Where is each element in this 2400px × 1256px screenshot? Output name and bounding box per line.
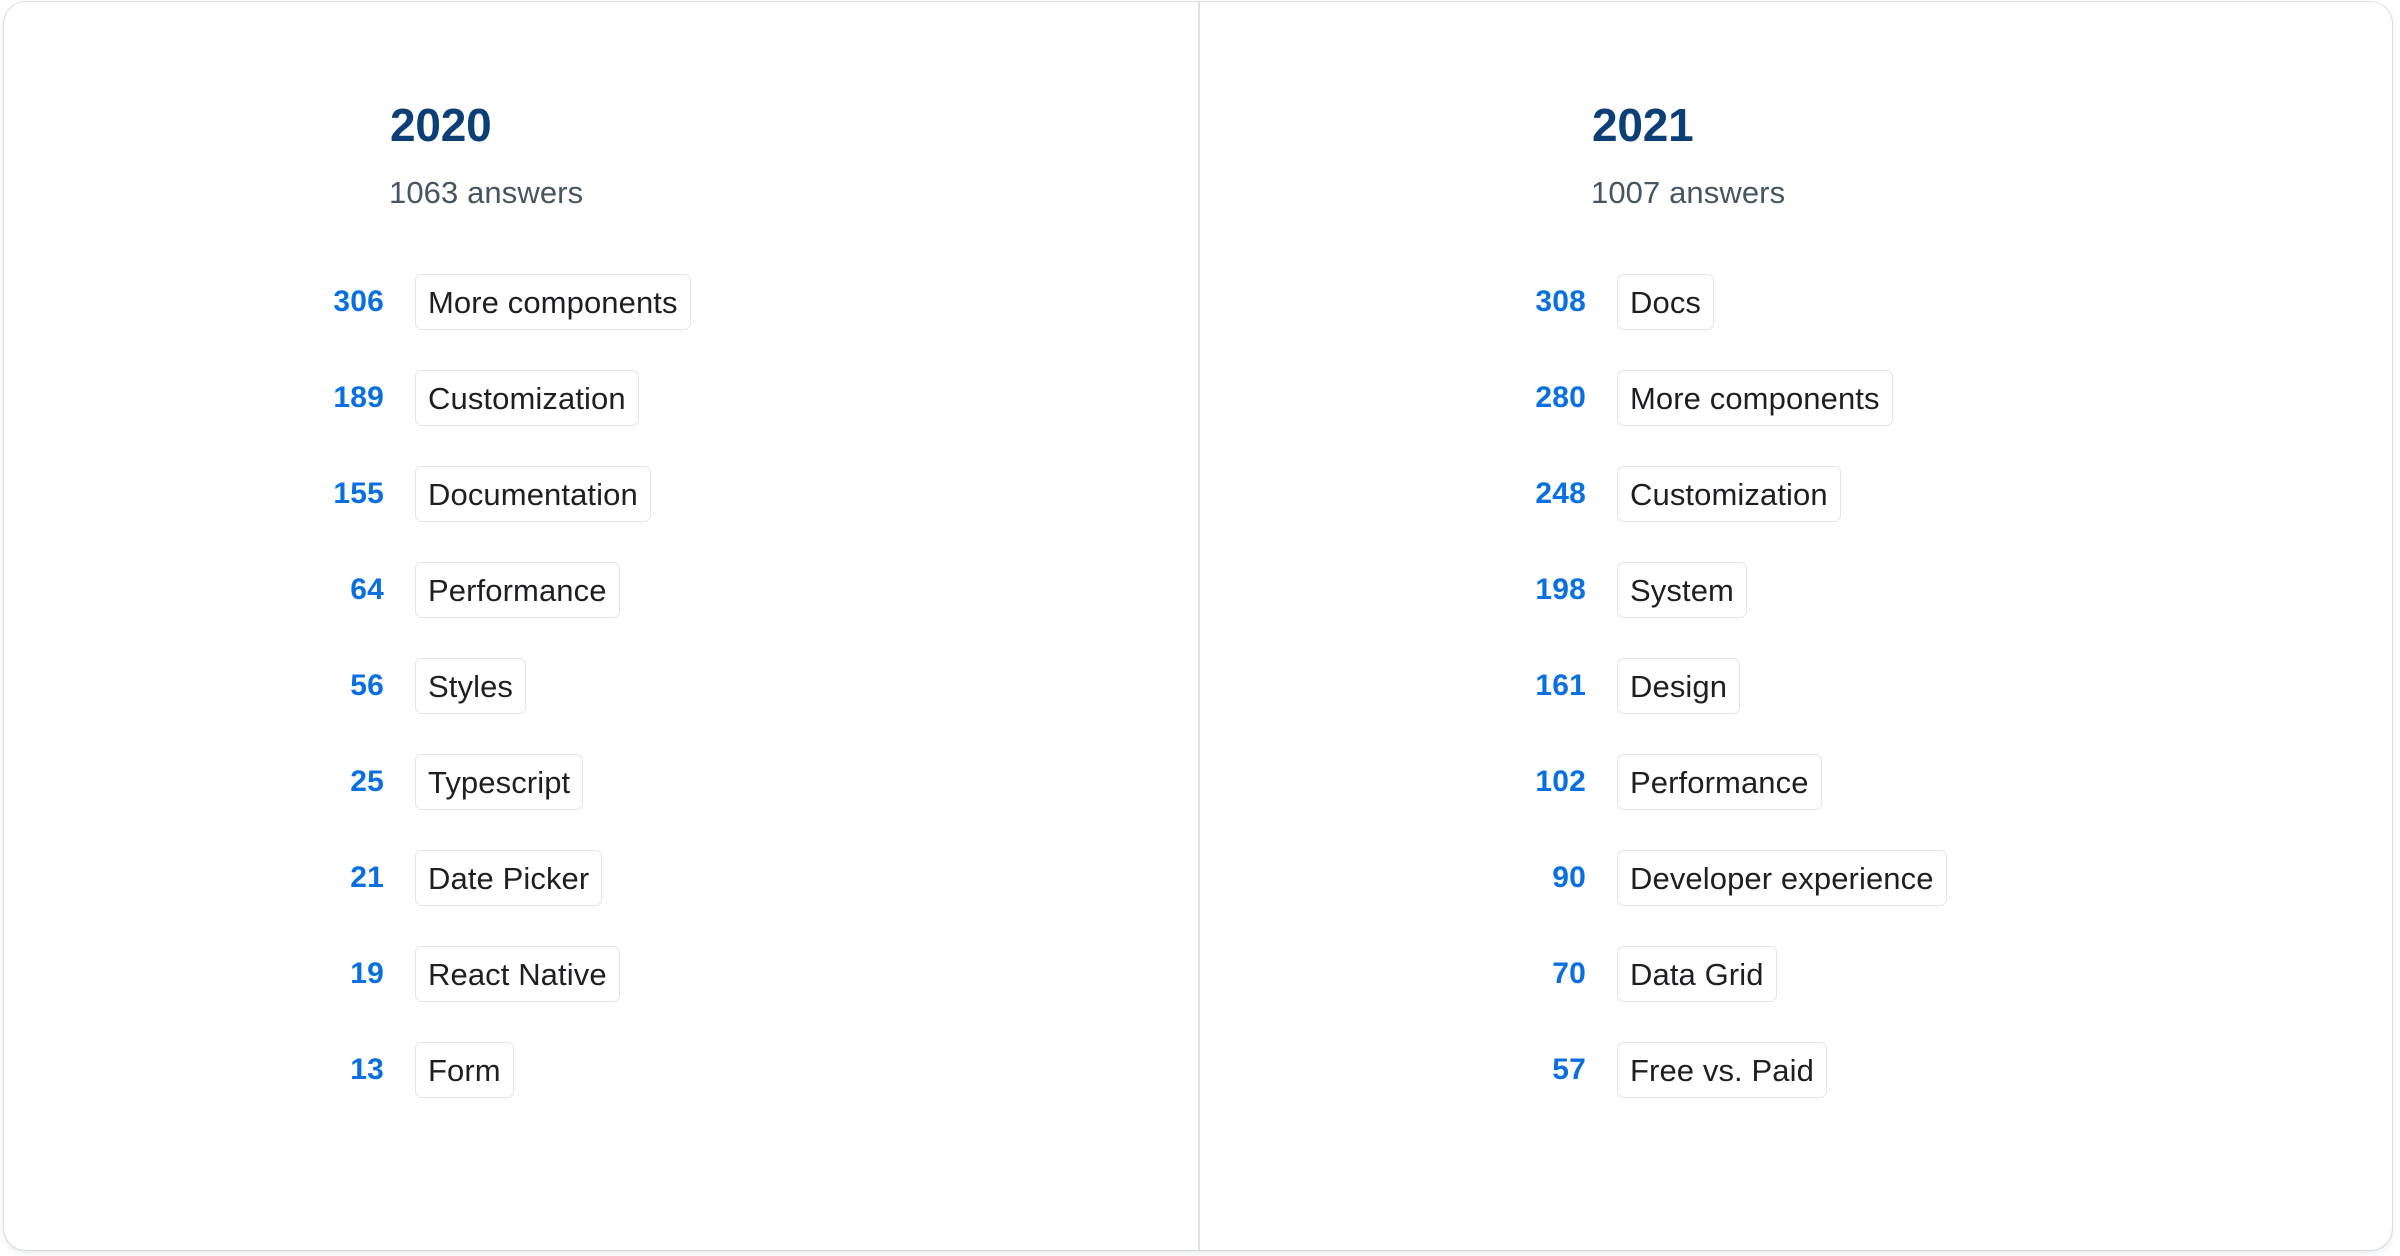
result-row[interactable]: 189 Customization [389,350,1198,446]
result-row[interactable]: 102 Performance [1591,734,2392,830]
result-row[interactable]: 306 More components [389,254,1198,350]
result-count: 198 [1522,575,1586,605]
result-label-chip[interactable]: Documentation [415,466,651,522]
result-count: 19 [320,959,384,989]
results-list-2021: 308 Docs 280 More components 248 Customi… [1591,254,2392,1118]
result-label-chip[interactable]: Developer experience [1617,850,1947,906]
result-count: 308 [1522,287,1586,317]
result-label-chip[interactable]: Styles [415,658,526,714]
result-label-chip[interactable]: React Native [415,946,620,1002]
result-row[interactable]: 155 Documentation [389,446,1198,542]
result-row[interactable]: 198 System [1591,542,2392,638]
result-count: 102 [1522,767,1586,797]
result-count: 64 [320,575,384,605]
result-label-chip[interactable]: Free vs. Paid [1617,1042,1827,1098]
results-list-2020: 306 More components 189 Customization 15… [389,254,1198,1118]
result-count: 70 [1522,959,1586,989]
result-count: 21 [320,863,384,893]
result-count: 280 [1522,383,1586,413]
result-label-chip[interactable]: Data Grid [1617,946,1777,1002]
result-row[interactable]: 90 Developer experience [1591,830,2392,926]
result-row[interactable]: 248 Customization [1591,446,2392,542]
result-label-chip[interactable]: Form [415,1042,514,1098]
answers-count-2021: 1007 answers [1591,177,2392,208]
result-label-chip[interactable]: Docs [1617,274,1714,330]
year-column-2020: 2020 1063 answers 306 More components 18… [4,2,1198,1250]
result-label-chip[interactable]: More components [1617,370,1893,426]
result-label-chip[interactable]: Customization [1617,466,1841,522]
answers-count-2020: 1063 answers [389,177,1198,208]
result-label-chip[interactable]: More components [415,274,691,330]
result-row[interactable]: 13 Form [389,1022,1198,1118]
result-row[interactable]: 21 Date Picker [389,830,1198,926]
result-row[interactable]: 19 React Native [389,926,1198,1022]
result-row[interactable]: 56 Styles [389,638,1198,734]
result-label-chip[interactable]: Design [1617,658,1740,714]
year-heading-2021: 2021 [1592,102,2392,148]
result-label-chip[interactable]: System [1617,562,1747,618]
result-count: 25 [320,767,384,797]
result-count: 13 [320,1055,384,1085]
result-row[interactable]: 57 Free vs. Paid [1591,1022,2392,1118]
result-count: 161 [1522,671,1586,701]
result-row[interactable]: 64 Performance [389,542,1198,638]
result-count: 189 [320,383,384,413]
result-row[interactable]: 25 Typescript [389,734,1198,830]
result-count: 248 [1522,479,1586,509]
result-count: 306 [320,287,384,317]
result-row[interactable]: 308 Docs [1591,254,2392,350]
result-row[interactable]: 70 Data Grid [1591,926,2392,1022]
result-count: 155 [320,479,384,509]
result-label-chip[interactable]: Date Picker [415,850,602,906]
result-count: 56 [320,671,384,701]
result-label-chip[interactable]: Typescript [415,754,583,810]
result-row[interactable]: 161 Design [1591,638,2392,734]
result-count: 57 [1522,1055,1586,1085]
result-label-chip[interactable]: Performance [415,562,620,618]
result-label-chip[interactable]: Customization [415,370,639,426]
result-label-chip[interactable]: Performance [1617,754,1822,810]
results-card: 2020 1063 answers 306 More components 18… [4,2,2392,1250]
result-row[interactable]: 280 More components [1591,350,2392,446]
year-heading-2020: 2020 [390,102,1198,148]
result-count: 90 [1522,863,1586,893]
year-column-2021: 2021 1007 answers 308 Docs 280 More comp… [1198,2,2392,1250]
